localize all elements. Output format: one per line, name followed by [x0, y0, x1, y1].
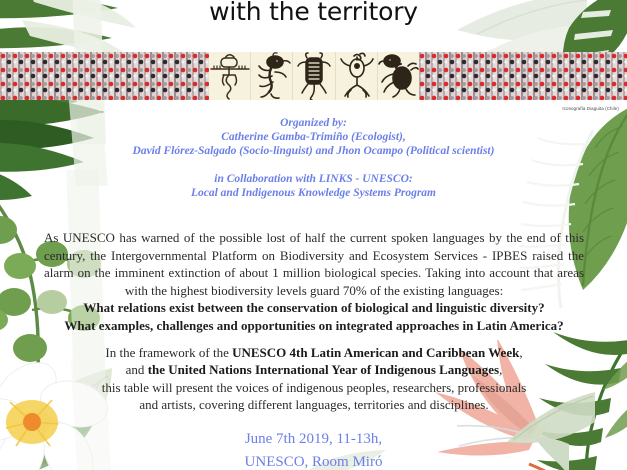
collaboration-line-1: in Collaboration with LINKS - UNESCO: [0, 172, 627, 186]
petroglyph-figure-2-icon [251, 52, 293, 100]
framework-line-2-suffix: , [499, 362, 502, 377]
framework-line-2-bold: the United Nations International Year of… [148, 362, 499, 377]
petroglyph-figure-4-icon [336, 52, 378, 100]
petroglyph-cell-3 [293, 52, 335, 100]
petroglyph-figure-1-icon [209, 52, 251, 100]
framework-line-1-bold: UNESCO 4th Latin American and Caribbean … [232, 345, 519, 360]
page-title: with the territory [0, 0, 627, 28]
organizers-heading: Organized by: [0, 116, 627, 130]
event-details-footer: June 7th 2019, 11-13h, UNESCO, Room Miró [0, 428, 627, 470]
framework-block: In the framework of the UNESCO 4th Latin… [44, 344, 584, 414]
textile-pattern-right: Iconografía Diaguita (Chile) [419, 52, 627, 100]
petroglyph-cell-1 [209, 52, 251, 100]
framework-line-2: and the United Nations International Yea… [44, 361, 584, 378]
petroglyph-cell-4 [336, 52, 378, 100]
body-paragraph: As UNESCO has warned of the possible los… [44, 229, 584, 299]
collaboration-block: in Collaboration with LINKS - UNESCO: Lo… [0, 172, 627, 200]
petroglyph-strip [209, 52, 419, 100]
banner-credit-caption: Iconografía Diaguita (Chile) [562, 106, 619, 111]
petroglyph-cell-2 [251, 52, 293, 100]
framework-line-4: and artists, covering different language… [44, 396, 584, 413]
framework-line-1: In the framework of the UNESCO 4th Latin… [44, 344, 584, 361]
framework-line-1-prefix: In the framework of the [105, 345, 232, 360]
body-text-block: As UNESCO has warned of the possible los… [44, 229, 584, 335]
poster-canvas: with the territory [0, 0, 627, 470]
body-question-2: What examples, challenges and opportunit… [44, 317, 584, 335]
petroglyph-figure-5-icon [378, 52, 419, 100]
organizers-block: Organized by: Catherine Gamba-Trimiño (E… [0, 116, 627, 158]
petroglyph-cell-5 [378, 52, 419, 100]
framework-line-2-prefix: and [126, 362, 148, 377]
framework-line-1-suffix: , [519, 345, 522, 360]
framework-line-3: this table will present the voices of in… [44, 379, 584, 396]
body-question-1: What relations exist between the conserv… [44, 299, 584, 317]
banner-strip: Iconografía Diaguita (Chile) [0, 52, 627, 100]
event-venue: UNESCO, Room Miró [0, 451, 627, 470]
petroglyph-figure-3-icon [293, 52, 335, 100]
poster-title-container: with the territory [0, 0, 627, 28]
organizer-line-2: David Flórez-Salgado (Socio-linguist) an… [0, 144, 627, 158]
event-date: June 7th 2019, 11-13h, [0, 428, 627, 451]
organizer-line-1: Catherine Gamba-Trimiño (Ecologist), [0, 130, 627, 144]
collaboration-line-2: Local and Indigenous Knowledge Systems P… [0, 186, 627, 200]
textile-pattern-left [0, 52, 209, 100]
